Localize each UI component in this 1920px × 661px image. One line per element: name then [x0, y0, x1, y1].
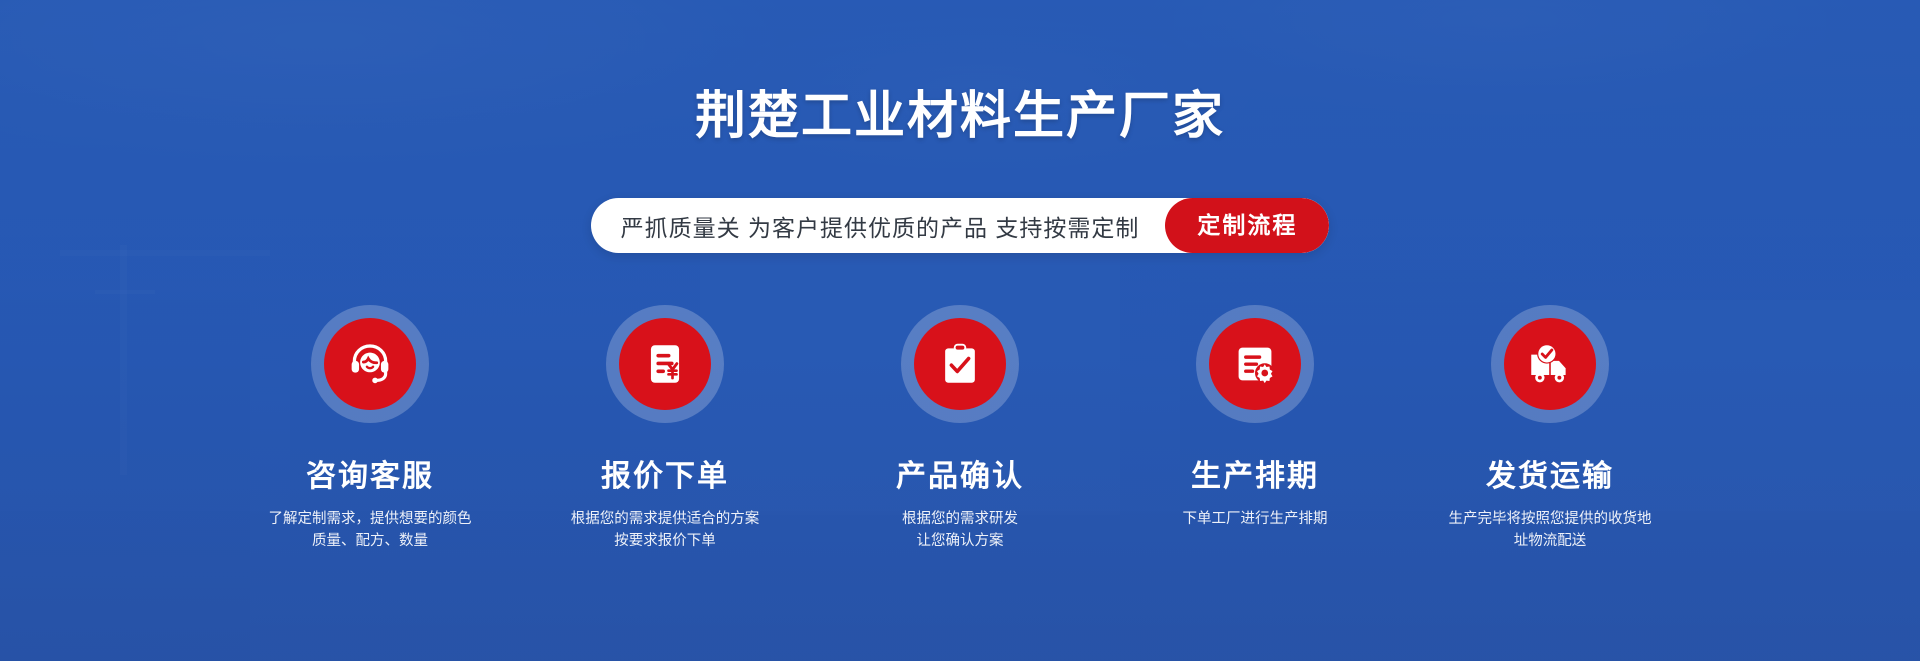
step-icon-ring-2: [606, 305, 724, 423]
step-item-confirm[interactable]: 产品确认 根据您的需求研发 让您确认方案: [853, 305, 1068, 553]
step-desc-line-1: 根据您的需求研发: [902, 511, 1018, 527]
step-desc-line-2: 址物流配送: [1443, 531, 1658, 553]
process-steps: 咨询客服 了解定制需求，提供想要的颜色 质量、配方、数量: [0, 305, 1920, 553]
step-icon-ring-1: [311, 305, 429, 423]
step-description: 了解定制需求，提供想要的颜色 质量、配方、数量: [263, 509, 478, 553]
tagline-text: 严抓质量关 为客户提供优质的产品 支持按需定制: [621, 209, 1166, 243]
custom-process-button[interactable]: 定制流程: [1165, 198, 1329, 253]
step-title: 报价下单: [601, 451, 729, 495]
invoice-yuan-icon: [640, 339, 690, 389]
step-icon-ring-3: [901, 305, 1019, 423]
step-desc-line-2: 按要求报价下单: [558, 531, 773, 553]
document-gear-icon: [1230, 339, 1280, 389]
step-title: 发货运输: [1486, 451, 1614, 495]
step-icon-disc-5: [1504, 318, 1596, 410]
step-item-shipping[interactable]: 发货运输 生产完毕将按照您提供的收货地 址物流配送: [1443, 305, 1658, 553]
tagline-pill: 严抓质量关 为客户提供优质的产品 支持按需定制 定制流程: [591, 198, 1330, 253]
delivery-truck-check-icon: [1525, 339, 1575, 389]
step-description: 下单工厂进行生产排期: [1148, 509, 1363, 531]
step-icon-disc-2: [619, 318, 711, 410]
step-desc-line-1: 根据您的需求提供适合的方案: [571, 511, 760, 527]
step-description: 根据您的需求研发 让您确认方案: [853, 509, 1068, 553]
page-title: 荆楚工业材料生产厂家: [0, 88, 1920, 144]
step-icon-disc-3: [914, 318, 1006, 410]
promo-banner: 荆楚工业材料生产厂家 严抓质量关 为客户提供优质的产品 支持按需定制 定制流程: [0, 0, 1920, 661]
step-title: 生产排期: [1191, 451, 1319, 495]
step-title: 咨询客服: [306, 451, 434, 495]
step-icon-disc-4: [1209, 318, 1301, 410]
step-icon-ring-4: [1196, 305, 1314, 423]
step-icon-disc-1: [324, 318, 416, 410]
step-desc-line-2: 让您确认方案: [853, 531, 1068, 553]
tagline-bar: 严抓质量关 为客户提供优质的产品 支持按需定制 定制流程: [0, 198, 1920, 253]
step-description: 生产完毕将按照您提供的收货地 址物流配送: [1443, 509, 1658, 553]
step-desc-line-1: 下单工厂进行生产排期: [1183, 511, 1328, 527]
step-item-quote[interactable]: 报价下单 根据您的需求提供适合的方案 按要求报价下单: [558, 305, 773, 553]
clipboard-check-icon: [935, 339, 985, 389]
step-icon-ring-5: [1491, 305, 1609, 423]
step-description: 根据您的需求提供适合的方案 按要求报价下单: [558, 509, 773, 553]
step-title: 产品确认: [896, 451, 1024, 495]
step-item-consult[interactable]: 咨询客服 了解定制需求，提供想要的颜色 质量、配方、数量: [263, 305, 478, 553]
step-desc-line-1: 了解定制需求，提供想要的颜色: [269, 511, 472, 527]
step-desc-line-2: 质量、配方、数量: [263, 531, 478, 553]
headset-support-icon: [345, 339, 395, 389]
step-desc-line-1: 生产完毕将按照您提供的收货地: [1449, 511, 1652, 527]
banner-content: 荆楚工业材料生产厂家 严抓质量关 为客户提供优质的产品 支持按需定制 定制流程: [0, 0, 1920, 661]
step-item-schedule[interactable]: 生产排期 下单工厂进行生产排期: [1148, 305, 1363, 553]
